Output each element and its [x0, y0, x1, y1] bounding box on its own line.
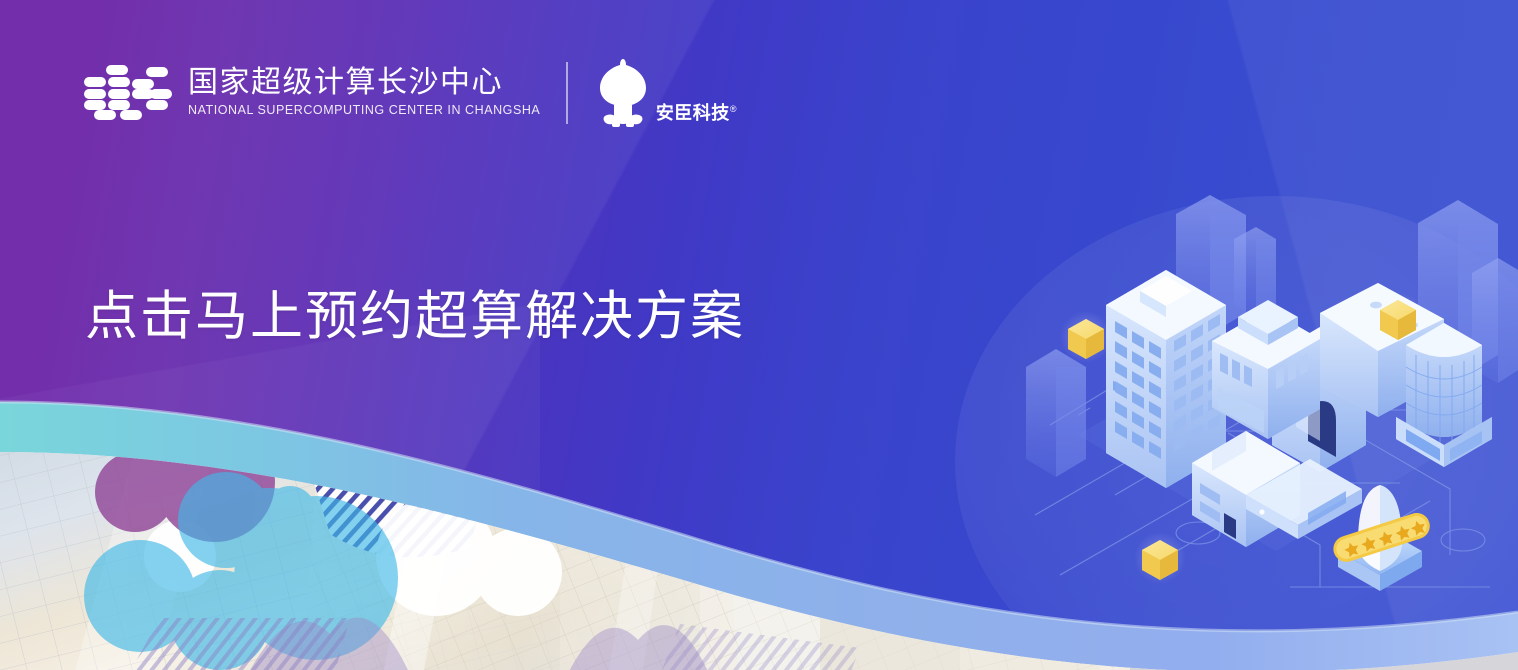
logo-divider: [566, 62, 568, 124]
anchen-mascot-icon: [592, 57, 654, 129]
trademark-symbol: ®: [730, 104, 737, 114]
yellow-cube: [1134, 532, 1186, 584]
partner-name: 安臣科技®: [656, 99, 737, 129]
partner-name-cn: 安臣科技: [656, 103, 730, 123]
round-glass-building: [1396, 323, 1492, 467]
node-dot: [1259, 509, 1264, 514]
hero-headline: 点击马上预约超算解决方案: [85, 286, 745, 347]
brand-name-en: NATIONAL SUPERCOMPUTING CENTER IN CHANGS…: [188, 103, 540, 119]
dot-matrix-logo-mark: [84, 64, 176, 122]
yellow-cube: [1060, 311, 1112, 363]
yellow-cube: [1372, 292, 1424, 344]
brand-text: 国家超级计算长沙中心 NATIONAL SUPERCOMPUTING CENTE…: [188, 67, 540, 118]
promo-banner: 国家超级计算长沙中心 NATIONAL SUPERCOMPUTING CENTE…: [0, 0, 1518, 670]
header-logo-row: 国家超级计算长沙中心 NATIONAL SUPERCOMPUTING CENTE…: [84, 58, 737, 128]
isometric-smart-city-illustration: [1020, 195, 1518, 615]
partner-logo: 安臣科技®: [592, 57, 737, 129]
brand-name-cn: 国家超级计算长沙中心: [188, 67, 540, 99]
